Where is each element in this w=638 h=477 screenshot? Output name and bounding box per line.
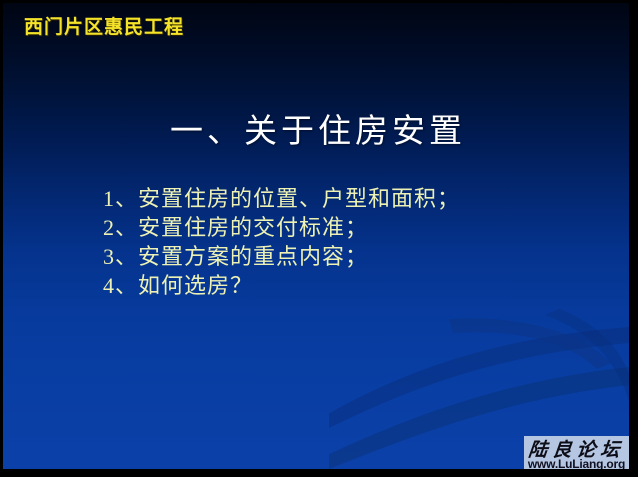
list-item: 4、如何选房？ (103, 271, 460, 300)
slide-header-title: 西门片区惠民工程 (24, 12, 184, 39)
page-title: 一、关于住房安置 (170, 104, 466, 152)
bullet-list: 1、安置住房的位置、户型和面积； 2、安置住房的交付标准； 3、安置方案的重点内… (103, 184, 460, 300)
list-item: 2、安置住房的交付标准； (103, 213, 460, 242)
watermark-badge: 陆良论坛 www.LuLiang.org (524, 436, 629, 469)
presentation-slide: 西门片区惠民工程 一、关于住房安置 1、安置住房的位置、户型和面积； 2、安置住… (0, 0, 638, 477)
slide-frame: 西门片区惠民工程 一、关于住房安置 1、安置住房的位置、户型和面积； 2、安置住… (0, 0, 638, 477)
list-item: 1、安置住房的位置、户型和面积； (103, 184, 460, 213)
list-item: 3、安置方案的重点内容； (103, 242, 460, 271)
watermark-site-url: www.LuLiang.org (524, 457, 629, 469)
slide-canvas: 西门片区惠民工程 一、关于住房安置 1、安置住房的位置、户型和面积； 2、安置住… (3, 3, 629, 469)
